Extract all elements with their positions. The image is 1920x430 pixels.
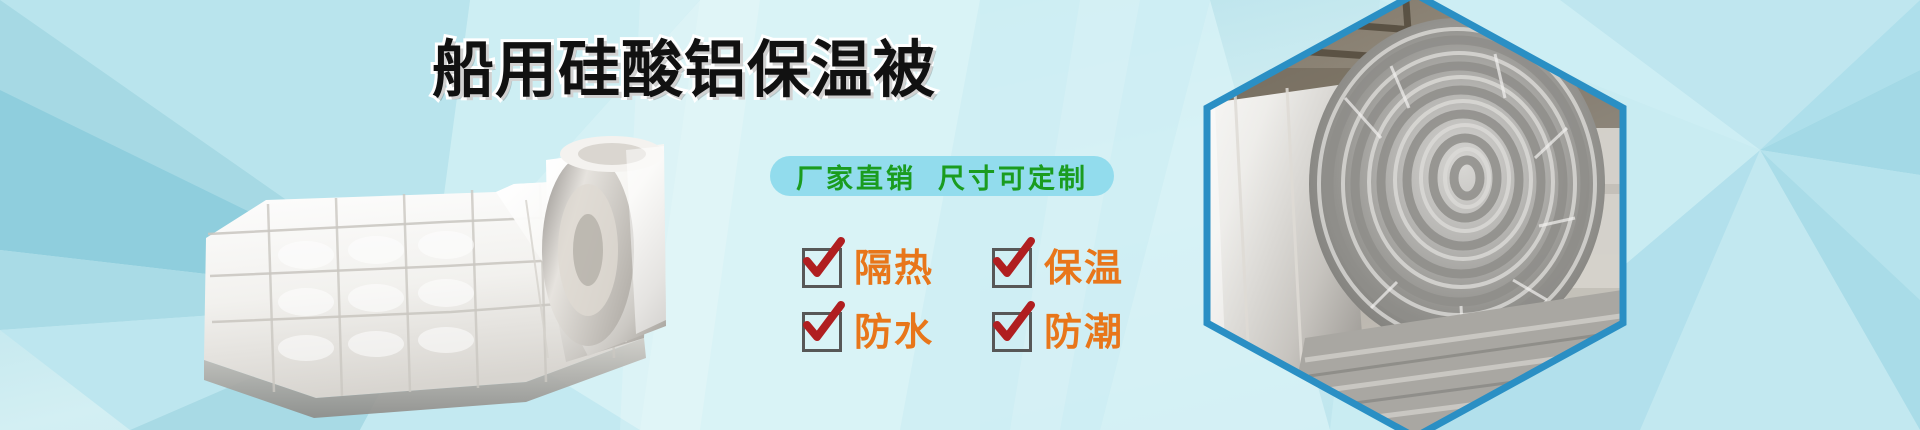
checkbox-checked-icon [992,248,1032,288]
feature-item-0: 隔热 [802,236,992,300]
feature-label-2: 防水 [854,313,934,351]
product-photo-hexagon [1195,0,1635,430]
feature-label-3: 防潮 [1044,313,1124,351]
promo-banner: 船用硅酸铝保温被 厂家直销 尺寸可定制 隔热 保温 防水 [0,0,1920,430]
feature-item-3: 防潮 [992,300,1182,364]
feature-list: 隔热 保温 防水 防潮 [802,236,1182,364]
feature-label-0: 隔热 [854,249,934,287]
pill-text-right: 尺寸可定制 [938,157,1088,196]
feature-item-1: 保温 [992,236,1182,300]
checkbox-checked-icon [802,312,842,352]
feature-label-1: 保温 [1044,249,1124,287]
checkbox-checked-icon [802,248,842,288]
selling-point-pill: 厂家直销 尺寸可定制 [770,156,1114,196]
pill-text-left: 厂家直销 [796,157,916,196]
checkbox-checked-icon [992,312,1032,352]
feature-item-2: 防水 [802,300,992,364]
product-photo-left [196,130,666,430]
page-title: 船用硅酸铝保温被 [432,36,902,104]
